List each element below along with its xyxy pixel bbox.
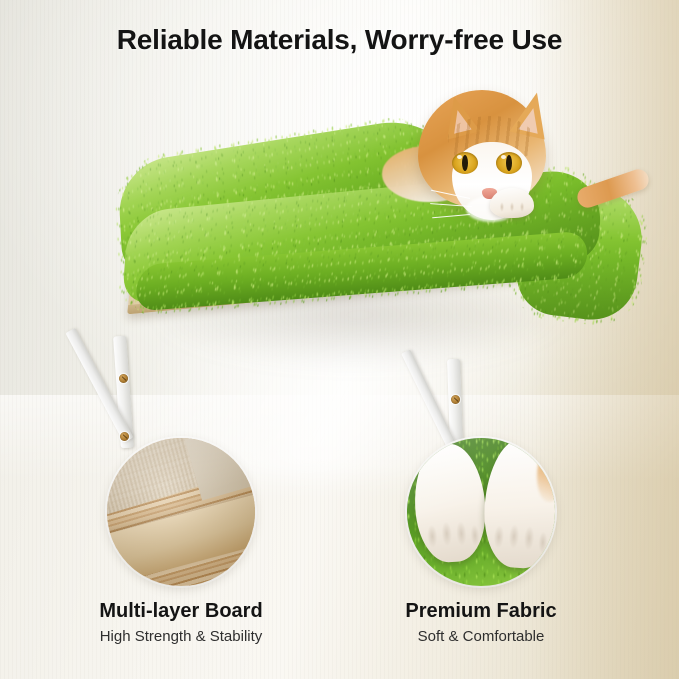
feature-title: Multi-layer Board xyxy=(86,600,276,623)
feature-image-paws xyxy=(407,438,555,586)
cat-illustration xyxy=(398,66,658,286)
infographic-page: Reliable Materials, Worry-free Use xyxy=(0,0,679,679)
feature-title: Premium Fabric xyxy=(386,600,576,623)
circle-gloss xyxy=(107,438,255,586)
shelf-bracket-left xyxy=(117,320,187,450)
feature-multi-layer-board: Multi-layer Board High Strength & Stabil… xyxy=(86,438,276,645)
feature-subtitle: Soft & Comfortable xyxy=(386,628,576,645)
cat-eye-left xyxy=(452,152,478,174)
cat-eye-right xyxy=(496,152,522,174)
feature-image-plywood xyxy=(107,438,255,586)
feature-subtitle: High Strength & Stability xyxy=(86,628,276,645)
circle-gloss xyxy=(407,438,555,586)
cat-front-paw xyxy=(490,188,534,218)
cat-head xyxy=(418,90,546,208)
cat-tail xyxy=(575,167,652,211)
feature-premium-fabric: Premium Fabric Soft & Comfortable xyxy=(386,438,576,645)
cat-whisker xyxy=(432,214,470,219)
bracket-screw-upper xyxy=(451,395,460,404)
page-title: Reliable Materials, Worry-free Use xyxy=(0,24,679,56)
bracket-screw-upper xyxy=(119,374,128,383)
hero-product-photo xyxy=(0,60,679,420)
